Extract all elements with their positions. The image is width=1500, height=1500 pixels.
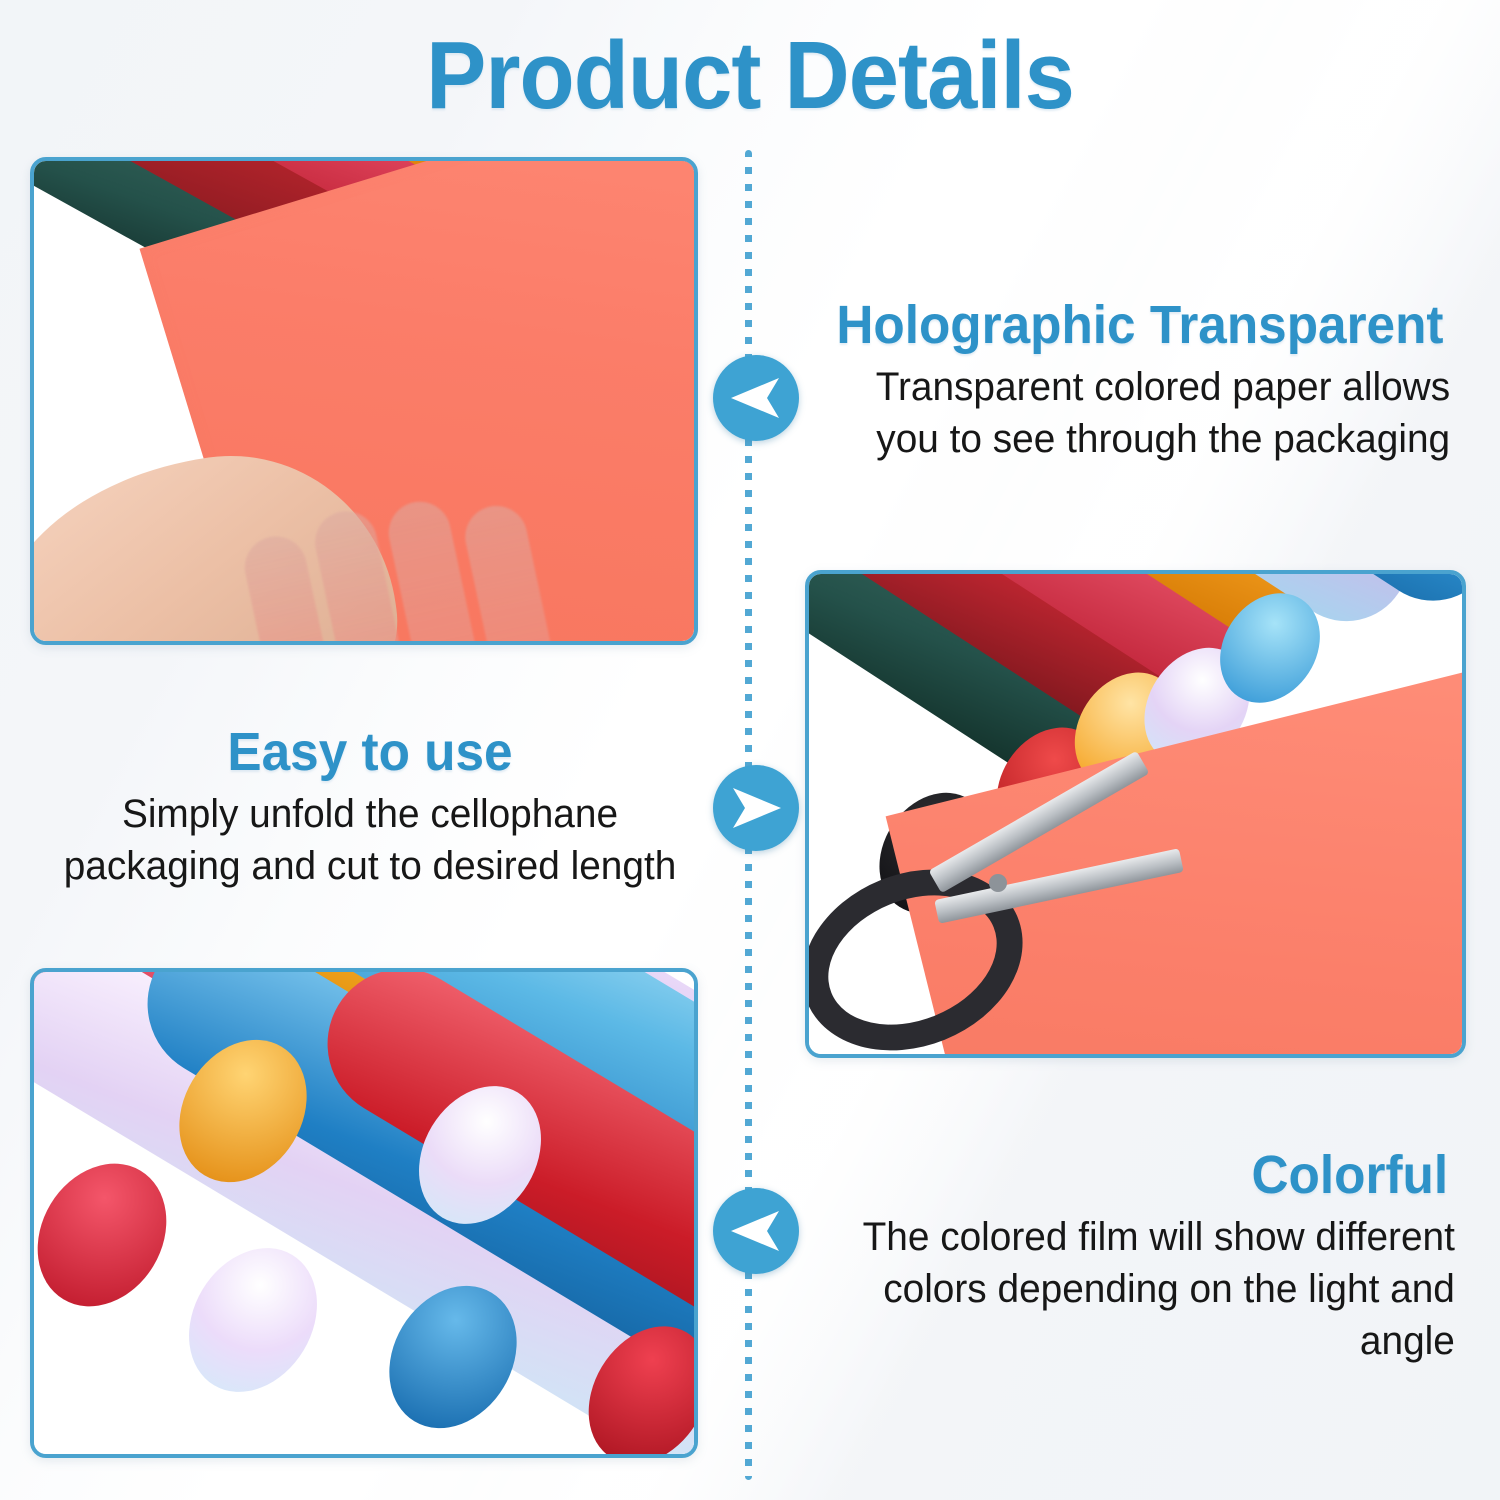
feature-text-easy-to-use: Easy to use Simply unfold the cellophane… (40, 722, 700, 892)
feature-body-line-2: colors depending on the light and angle (800, 1263, 1455, 1367)
feature-text-colorful: Colorful The colored film will show diff… (790, 1145, 1465, 1367)
photo-colored-cellophane-rolls (34, 972, 694, 1454)
photo-scissors-cutting-film (809, 574, 1462, 1054)
feature-body-line-2: you to see through the packaging (810, 413, 1450, 465)
feature-heading: Colorful (807, 1145, 1448, 1205)
feature-image-easy-to-use (805, 570, 1466, 1058)
arrow-right-icon-badge-2 (713, 765, 799, 851)
feature-body-line-1: The colored film will show different (800, 1211, 1455, 1263)
feature-image-colorful (30, 968, 698, 1458)
photo-hand-holding-film (34, 161, 694, 641)
feature-heading: Easy to use (57, 722, 684, 782)
product-details-infographic: Product Details (0, 0, 1500, 1500)
arrow-left-icon-badge-3 (713, 1188, 799, 1274)
feature-body-line-1: Transparent colored paper allows (810, 361, 1450, 413)
arrow-left-icon (729, 376, 783, 420)
feature-heading: Holographic Transparent (817, 295, 1444, 355)
feature-image-holographic-transparent (30, 157, 698, 645)
arrow-left-icon (729, 1209, 783, 1253)
feature-body-line-1: Simply unfold the cellophane (50, 788, 690, 840)
arrow-right-icon (729, 786, 783, 830)
arrow-left-icon-badge-1 (713, 355, 799, 441)
feature-text-holographic-transparent: Holographic Transparent Transparent colo… (800, 295, 1460, 465)
feature-body-line-2: packaging and cut to desired length (50, 840, 690, 892)
page-title: Product Details (45, 24, 1455, 128)
